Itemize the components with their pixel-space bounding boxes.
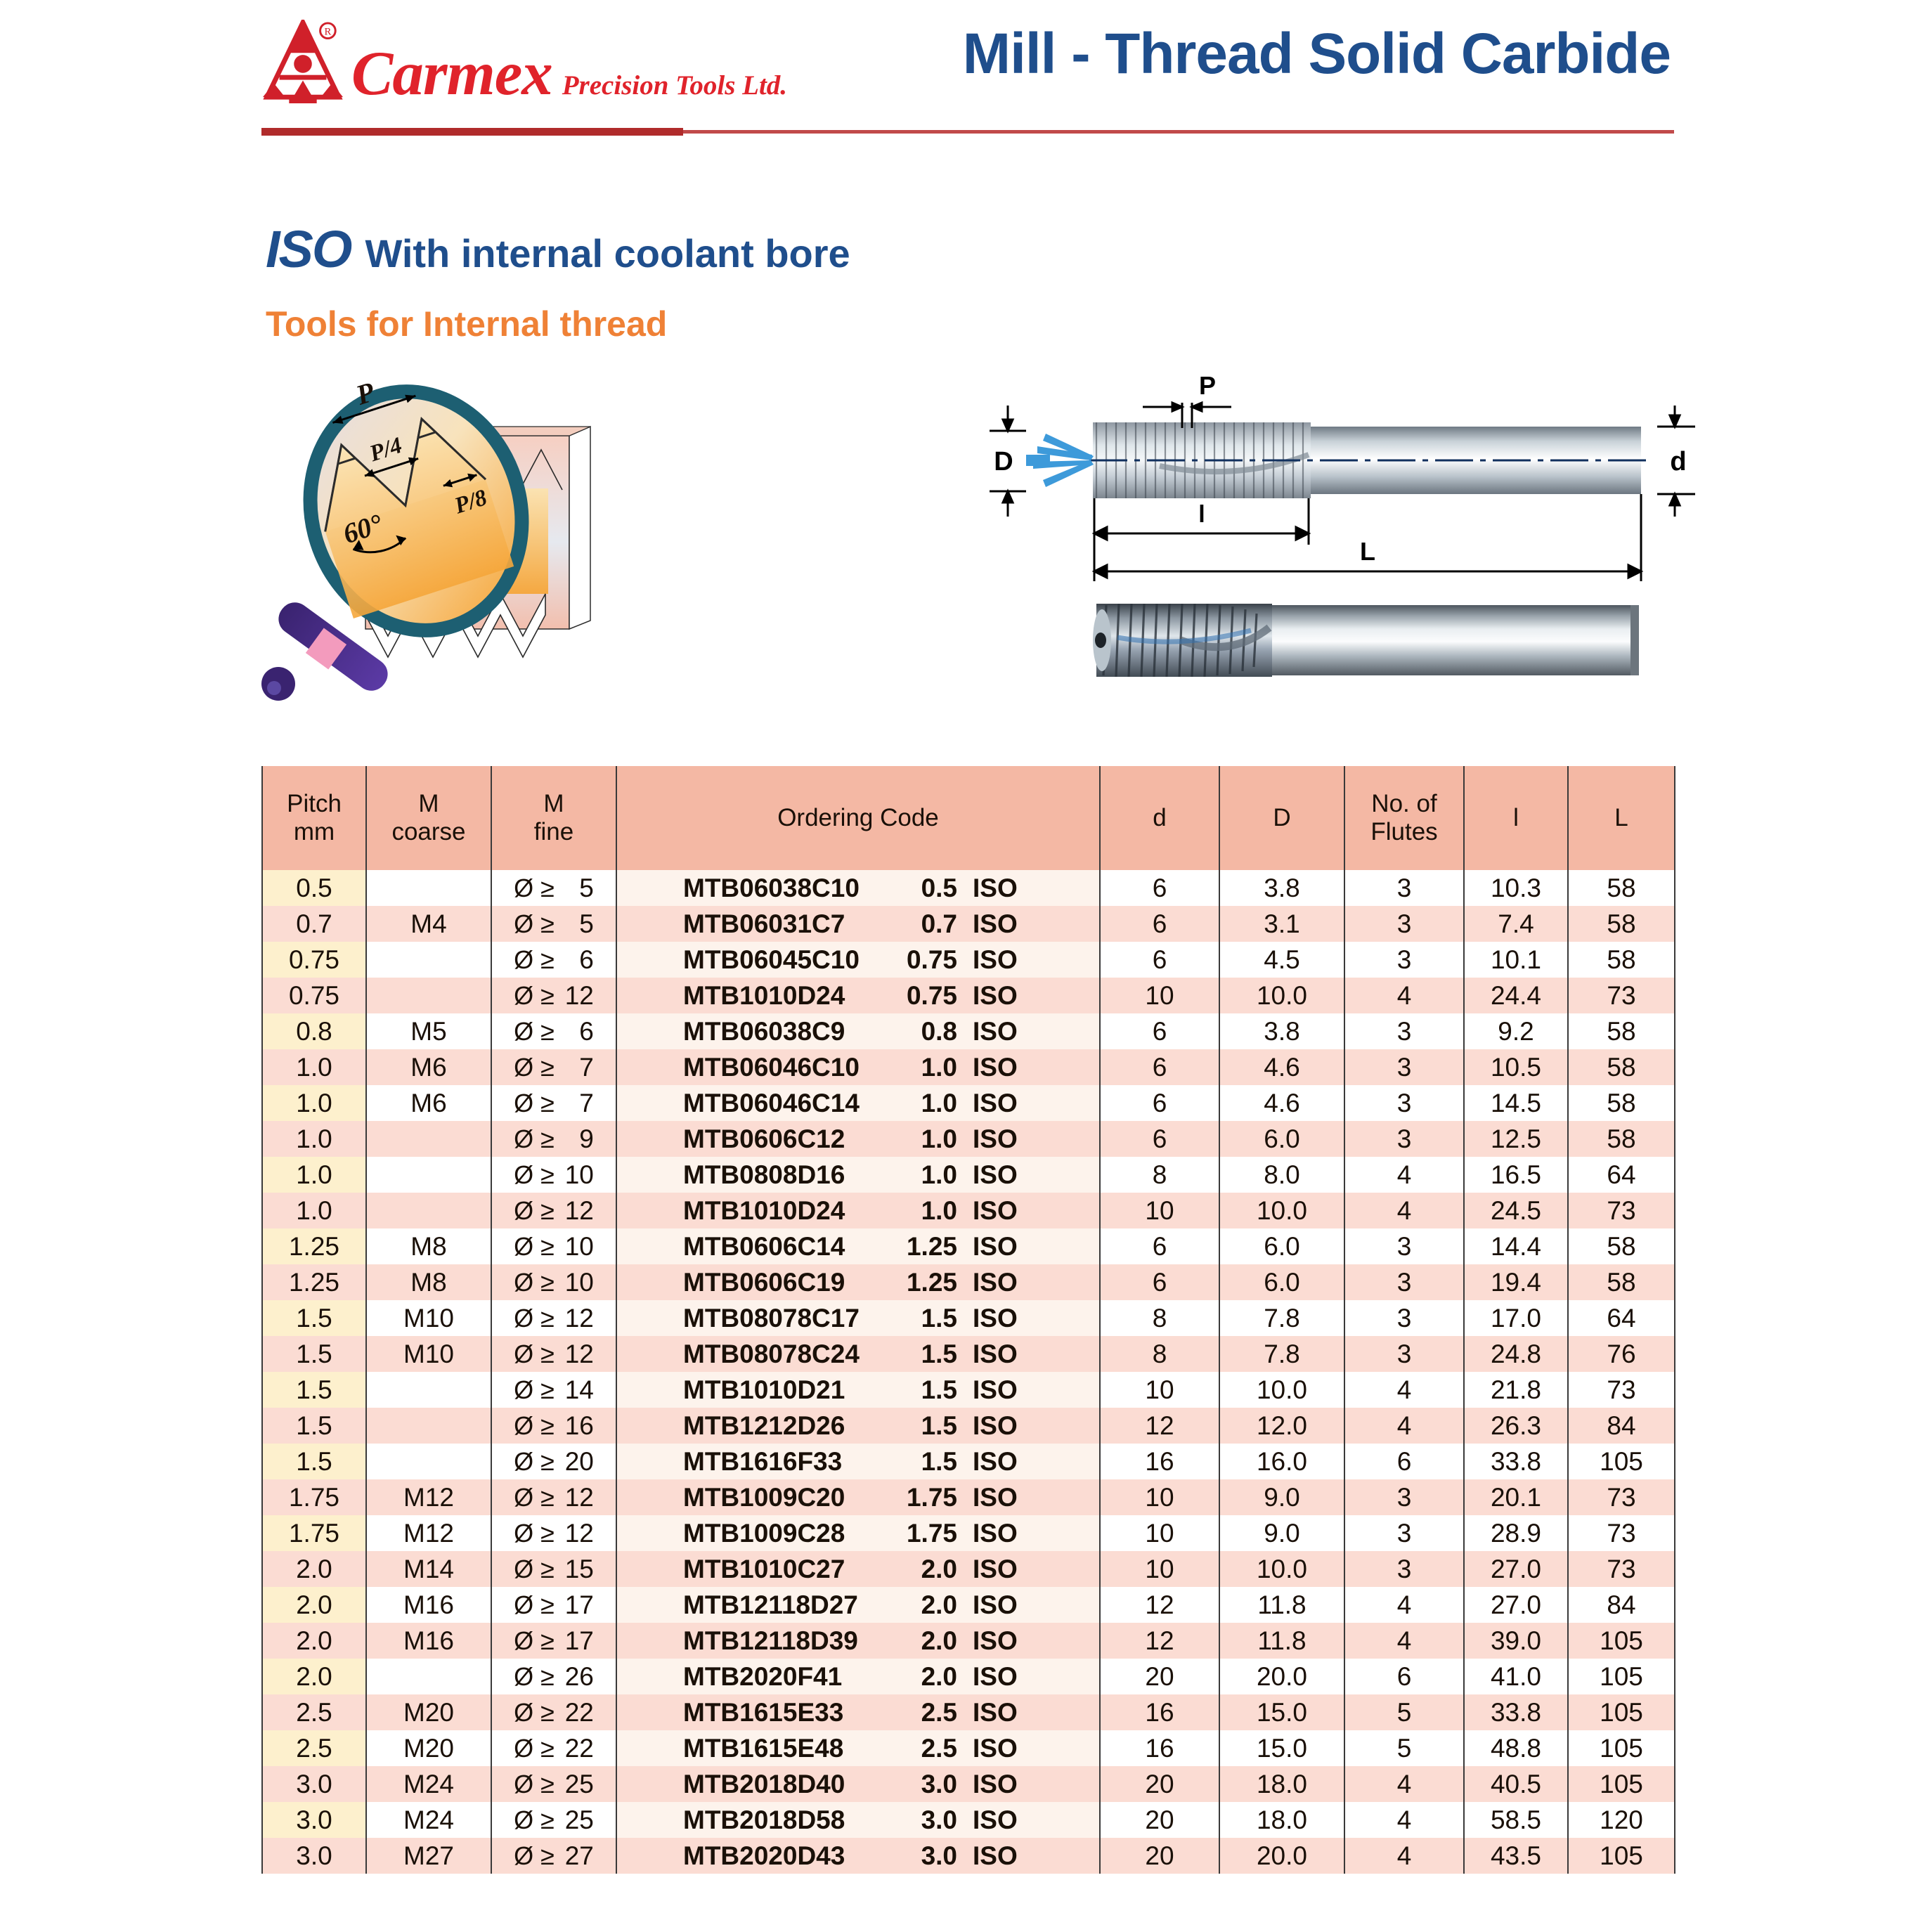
cell-flute-count: 5: [1344, 1730, 1464, 1766]
cell-major-diameter: 6.0: [1219, 1228, 1344, 1264]
cell-m-coarse: [366, 1193, 491, 1228]
cell-ordering-code: MTB0606C141.25ISO: [616, 1228, 1100, 1264]
table-row[interactable]: 2.0M14Ø ≥15MTB1010C272.0ISO1010.0327.073: [262, 1551, 1675, 1587]
cell-m-fine: Ø ≥6: [491, 1013, 616, 1049]
cell-m-coarse: M27: [366, 1838, 491, 1874]
page-title: Mill - Thread Solid Carbide: [963, 21, 1671, 87]
cell-major-diameter: 4.5: [1219, 942, 1344, 978]
cell-flute-count: 3: [1344, 1551, 1464, 1587]
table-row[interactable]: 1.75M12Ø ≥12MTB1009C201.75ISO109.0320.17…: [262, 1479, 1675, 1515]
cell-major-diameter: 11.8: [1219, 1623, 1344, 1659]
table-row[interactable]: 3.0M24Ø ≥25MTB2018D583.0ISO2018.0458.512…: [262, 1802, 1675, 1838]
cell-pitch: 3.0: [262, 1766, 366, 1802]
cell-m-coarse: M24: [366, 1802, 491, 1838]
col-header-flutes-line2: Flutes: [1345, 818, 1463, 846]
cell-pitch: 1.0: [262, 1121, 366, 1157]
cell-shank-diameter: 16: [1100, 1694, 1219, 1730]
cell-m-coarse: [366, 1121, 491, 1157]
cell-flute-count: 4: [1344, 1838, 1464, 1874]
cell-overall-length: 58: [1568, 1049, 1675, 1085]
cell-flute-count: 4: [1344, 1587, 1464, 1623]
cell-flute-count: 4: [1344, 1157, 1464, 1193]
cell-shank-diameter: 10: [1100, 978, 1219, 1013]
cell-m-coarse: [366, 1408, 491, 1444]
cell-thread-length: 24.8: [1464, 1336, 1568, 1372]
cell-thread-length: 10.3: [1464, 870, 1568, 906]
cell-major-diameter: 15.0: [1219, 1694, 1344, 1730]
cell-thread-length: 20.1: [1464, 1479, 1568, 1515]
cell-shank-diameter: 6: [1100, 1228, 1219, 1264]
cell-shank-diameter: 12: [1100, 1623, 1219, 1659]
cell-thread-length: 27.0: [1464, 1587, 1568, 1623]
cell-thread-length: 7.4: [1464, 906, 1568, 942]
cell-pitch: 1.25: [262, 1228, 366, 1264]
cell-thread-length: 40.5: [1464, 1766, 1568, 1802]
cell-overall-length: 120: [1568, 1802, 1675, 1838]
cell-thread-length: 19.4: [1464, 1264, 1568, 1300]
cell-overall-length: 58: [1568, 906, 1675, 942]
cell-flute-count: 4: [1344, 1802, 1464, 1838]
col-header-pitch: Pitch mm: [262, 766, 366, 870]
cell-overall-length: 76: [1568, 1336, 1675, 1372]
col-header-flutes-line1: No. of: [1345, 790, 1463, 818]
cell-ordering-code: MTB1010D211.5ISO: [616, 1372, 1100, 1408]
col-header-m-coarse: M coarse: [366, 766, 491, 870]
cell-pitch: 1.0: [262, 1193, 366, 1228]
table-row[interactable]: 0.8M5Ø ≥6MTB06038C90.8ISO63.839.258: [262, 1013, 1675, 1049]
cell-flute-count: 5: [1344, 1694, 1464, 1730]
table-row[interactable]: 1.0Ø ≥12MTB1010D241.0ISO1010.0424.573: [262, 1193, 1675, 1228]
table-row[interactable]: 1.75M12Ø ≥12MTB1009C281.75ISO109.0328.97…: [262, 1515, 1675, 1551]
cell-thread-length: 14.5: [1464, 1085, 1568, 1121]
cell-m-fine: Ø ≥7: [491, 1085, 616, 1121]
cell-ordering-code: MTB06046C141.0ISO: [616, 1085, 1100, 1121]
cell-m-fine: Ø ≥12: [491, 1515, 616, 1551]
cell-ordering-code: MTB1010C272.0ISO: [616, 1551, 1100, 1587]
col-header-m-fine-line1: M: [492, 790, 616, 818]
cell-thread-length: 9.2: [1464, 1013, 1568, 1049]
table-header-row: Pitch mm M coarse M fine Ordering Code d…: [262, 766, 1675, 870]
cell-m-fine: Ø ≥9: [491, 1121, 616, 1157]
cell-m-fine: Ø ≥10: [491, 1264, 616, 1300]
cell-shank-diameter: 10: [1100, 1193, 1219, 1228]
cell-ordering-code: MTB1615E332.5ISO: [616, 1694, 1100, 1730]
col-header-m-coarse-line1: M: [367, 790, 491, 818]
section-subtitle: Tools for Internal thread: [266, 304, 667, 344]
cell-m-fine: Ø ≥12: [491, 1193, 616, 1228]
cell-m-coarse: M12: [366, 1515, 491, 1551]
cell-shank-diameter: 8: [1100, 1336, 1219, 1372]
cell-overall-length: 73: [1568, 1551, 1675, 1587]
cell-pitch: 2.0: [262, 1623, 366, 1659]
cell-flute-count: 3: [1344, 1300, 1464, 1336]
cell-m-coarse: M14: [366, 1551, 491, 1587]
cell-overall-length: 105: [1568, 1766, 1675, 1802]
cell-m-fine: Ø ≥5: [491, 870, 616, 906]
cell-flute-count: 4: [1344, 1372, 1464, 1408]
cell-shank-diameter: 16: [1100, 1444, 1219, 1479]
section-standard-label: ISO: [266, 219, 351, 279]
cell-major-diameter: 15.0: [1219, 1730, 1344, 1766]
table-row[interactable]: 0.5Ø ≥5MTB06038C100.5ISO63.8310.358: [262, 870, 1675, 906]
cell-ordering-code: MTB12118D392.0ISO: [616, 1623, 1100, 1659]
col-header-ordering-code: Ordering Code: [616, 766, 1100, 870]
table-row[interactable]: 1.5Ø ≥16MTB1212D261.5ISO1212.0426.384: [262, 1408, 1675, 1444]
cell-m-coarse: [366, 1444, 491, 1479]
col-header-m-fine-line2: fine: [492, 818, 616, 846]
cell-overall-length: 73: [1568, 1515, 1675, 1551]
dim-label-D: D: [994, 447, 1013, 476]
cell-flute-count: 4: [1344, 1193, 1464, 1228]
cell-major-diameter: 3.8: [1219, 870, 1344, 906]
table-body: 0.5Ø ≥5MTB06038C100.5ISO63.8310.3580.7M4…: [262, 870, 1675, 1874]
cell-thread-length: 10.5: [1464, 1049, 1568, 1085]
cell-thread-length: 41.0: [1464, 1659, 1568, 1694]
cell-thread-length: 43.5: [1464, 1838, 1568, 1874]
cell-overall-length: 58: [1568, 1228, 1675, 1264]
cell-thread-length: 21.8: [1464, 1372, 1568, 1408]
svg-text:R: R: [324, 27, 331, 38]
cell-thread-length: 33.8: [1464, 1444, 1568, 1479]
cell-shank-diameter: 12: [1100, 1587, 1219, 1623]
cell-pitch: 0.75: [262, 978, 366, 1013]
cell-pitch: 0.5: [262, 870, 366, 906]
cell-flute-count: 6: [1344, 1444, 1464, 1479]
cell-m-fine: Ø ≥14: [491, 1372, 616, 1408]
cell-major-diameter: 16.0: [1219, 1444, 1344, 1479]
cell-m-fine: Ø ≥26: [491, 1659, 616, 1694]
brand-name: Carmex: [351, 44, 552, 104]
cell-major-diameter: 20.0: [1219, 1838, 1344, 1874]
tool-dimension-drawing: D d P l: [984, 376, 1729, 594]
cell-thread-length: 24.5: [1464, 1193, 1568, 1228]
cell-major-diameter: 8.0: [1219, 1157, 1344, 1193]
company-logo: R Carmex Precision Tools Ltd.: [261, 20, 787, 104]
table-row[interactable]: 1.5Ø ≥20MTB1616F331.5ISO1616.0633.8105: [262, 1444, 1675, 1479]
cell-pitch: 1.5: [262, 1300, 366, 1336]
cell-ordering-code: MTB0808D161.0ISO: [616, 1157, 1100, 1193]
cell-m-coarse: M24: [366, 1766, 491, 1802]
cell-overall-length: 58: [1568, 870, 1675, 906]
cell-ordering-code: MTB06038C100.5ISO: [616, 870, 1100, 906]
cell-shank-diameter: 10: [1100, 1551, 1219, 1587]
cell-m-fine: Ø ≥12: [491, 1300, 616, 1336]
dim-label-P: P: [1199, 376, 1216, 400]
cell-major-diameter: 9.0: [1219, 1479, 1344, 1515]
tool-photograph: [1075, 594, 1666, 685]
dim-label-L: L: [1360, 537, 1375, 566]
cell-ordering-code: MTB1009C281.75ISO: [616, 1515, 1100, 1551]
cell-shank-diameter: 6: [1100, 1013, 1219, 1049]
cell-thread-length: 12.5: [1464, 1121, 1568, 1157]
col-header-m-coarse-line2: coarse: [367, 818, 491, 846]
table-row[interactable]: 2.0M16Ø ≥17MTB12118D272.0ISO1211.8427.08…: [262, 1587, 1675, 1623]
cell-flute-count: 3: [1344, 1479, 1464, 1515]
cell-m-fine: Ø ≥10: [491, 1228, 616, 1264]
cell-ordering-code: MTB06045C100.75ISO: [616, 942, 1100, 978]
cell-flute-count: 4: [1344, 1408, 1464, 1444]
col-header-L: L: [1568, 766, 1675, 870]
cell-m-fine: Ø ≥22: [491, 1730, 616, 1766]
cell-m-fine: Ø ≥12: [491, 1479, 616, 1515]
cell-major-diameter: 10.0: [1219, 1193, 1344, 1228]
table-row[interactable]: 3.0M24Ø ≥25MTB2018D403.0ISO2018.0440.510…: [262, 1766, 1675, 1802]
cell-thread-length: 16.5: [1464, 1157, 1568, 1193]
cell-ordering-code: MTB2020D433.0ISO: [616, 1838, 1100, 1874]
cell-m-fine: Ø ≥12: [491, 978, 616, 1013]
cell-m-coarse: [366, 1157, 491, 1193]
cell-shank-diameter: 10: [1100, 1515, 1219, 1551]
cell-pitch: 1.25: [262, 1264, 366, 1300]
brand-tagline: Precision Tools Ltd.: [562, 72, 787, 99]
cell-pitch: 1.0: [262, 1085, 366, 1121]
cell-ordering-code: MTB1616F331.5ISO: [616, 1444, 1100, 1479]
cell-ordering-code: MTB08078C241.5ISO: [616, 1336, 1100, 1372]
cell-pitch: 2.0: [262, 1551, 366, 1587]
cell-m-fine: Ø ≥5: [491, 906, 616, 942]
cell-major-diameter: 18.0: [1219, 1802, 1344, 1838]
cell-m-coarse: M6: [366, 1085, 491, 1121]
cell-flute-count: 3: [1344, 870, 1464, 906]
cell-major-diameter: 18.0: [1219, 1766, 1344, 1802]
cell-ordering-code: MTB06046C101.0ISO: [616, 1049, 1100, 1085]
cell-shank-diameter: 12: [1100, 1408, 1219, 1444]
cell-m-coarse: M16: [366, 1623, 491, 1659]
cell-major-diameter: 6.0: [1219, 1121, 1344, 1157]
cell-flute-count: 4: [1344, 978, 1464, 1013]
cell-thread-length: 28.9: [1464, 1515, 1568, 1551]
cell-pitch: 3.0: [262, 1838, 366, 1874]
cell-ordering-code: MTB08078C171.5ISO: [616, 1300, 1100, 1336]
col-header-l: l: [1464, 766, 1568, 870]
cell-overall-length: 105: [1568, 1730, 1675, 1766]
cell-flute-count: 3: [1344, 1085, 1464, 1121]
table-header: Pitch mm M coarse M fine Ordering Code d…: [262, 766, 1675, 870]
cell-thread-length: 27.0: [1464, 1551, 1568, 1587]
cell-ordering-code: MTB1010D240.75ISO: [616, 978, 1100, 1013]
cell-m-coarse: M10: [366, 1300, 491, 1336]
cell-major-diameter: 12.0: [1219, 1408, 1344, 1444]
cell-shank-diameter: 6: [1100, 1085, 1219, 1121]
table-row[interactable]: 1.25M8Ø ≥10MTB0606C191.25ISO66.0319.458: [262, 1264, 1675, 1300]
cell-ordering-code: MTB06031C70.7ISO: [616, 906, 1100, 942]
cell-overall-length: 73: [1568, 1372, 1675, 1408]
cell-overall-length: 84: [1568, 1408, 1675, 1444]
cell-ordering-code: MTB2018D403.0ISO: [616, 1766, 1100, 1802]
cell-flute-count: 3: [1344, 1515, 1464, 1551]
cell-pitch: 0.75: [262, 942, 366, 978]
cell-shank-diameter: 6: [1100, 870, 1219, 906]
cell-shank-diameter: 6: [1100, 1049, 1219, 1085]
cell-major-diameter: 11.8: [1219, 1587, 1344, 1623]
table-row[interactable]: 0.75Ø ≥6MTB06045C100.75ISO64.5310.158: [262, 942, 1675, 978]
cell-ordering-code: MTB1010D241.0ISO: [616, 1193, 1100, 1228]
cell-overall-length: 73: [1568, 1479, 1675, 1515]
cell-flute-count: 3: [1344, 1121, 1464, 1157]
cell-pitch: 3.0: [262, 1802, 366, 1838]
cell-thread-length: 48.8: [1464, 1730, 1568, 1766]
cell-overall-length: 58: [1568, 942, 1675, 978]
col-header-flutes: No. of Flutes: [1344, 766, 1464, 870]
cell-overall-length: 58: [1568, 1264, 1675, 1300]
cell-ordering-code: MTB1615E482.5ISO: [616, 1730, 1100, 1766]
table-row[interactable]: 1.0M6Ø ≥7MTB06046C101.0ISO64.6310.558: [262, 1049, 1675, 1085]
cell-ordering-code: MTB1212D261.5ISO: [616, 1408, 1100, 1444]
cell-thread-length: 17.0: [1464, 1300, 1568, 1336]
cell-pitch: 1.0: [262, 1049, 366, 1085]
cell-shank-diameter: 6: [1100, 1121, 1219, 1157]
cell-pitch: 0.7: [262, 906, 366, 942]
cell-overall-length: 58: [1568, 1121, 1675, 1157]
cell-shank-diameter: 20: [1100, 1659, 1219, 1694]
cell-flute-count: 3: [1344, 906, 1464, 942]
cell-pitch: 1.75: [262, 1515, 366, 1551]
cell-shank-diameter: 6: [1100, 1264, 1219, 1300]
table-row[interactable]: 0.7M4Ø ≥5MTB06031C70.7ISO63.137.458: [262, 906, 1675, 942]
cell-pitch: 2.5: [262, 1730, 366, 1766]
cell-shank-diameter: 8: [1100, 1300, 1219, 1336]
cell-pitch: 2.0: [262, 1587, 366, 1623]
cell-m-coarse: [366, 942, 491, 978]
cell-overall-length: 105: [1568, 1444, 1675, 1479]
cell-m-fine: Ø ≥12: [491, 1336, 616, 1372]
cell-flute-count: 3: [1344, 1264, 1464, 1300]
dim-label-d: d: [1670, 447, 1686, 476]
cell-m-coarse: M6: [366, 1049, 491, 1085]
cell-m-fine: Ø ≥20: [491, 1444, 616, 1479]
table-row[interactable]: 2.0M16Ø ≥17MTB12118D392.0ISO1211.8439.01…: [262, 1623, 1675, 1659]
cell-flute-count: 3: [1344, 1336, 1464, 1372]
dim-label-l: l: [1198, 501, 1205, 528]
cell-m-fine: Ø ≥27: [491, 1838, 616, 1874]
col-header-D-major: D: [1219, 766, 1344, 870]
cell-shank-diameter: 16: [1100, 1730, 1219, 1766]
table-row[interactable]: 1.5M10Ø ≥12MTB08078C171.5ISO87.8317.064: [262, 1300, 1675, 1336]
cell-overall-length: 73: [1568, 978, 1675, 1013]
table-row[interactable]: 2.5M20Ø ≥22MTB1615E332.5ISO1615.0533.810…: [262, 1694, 1675, 1730]
cell-major-diameter: 7.8: [1219, 1300, 1344, 1336]
cell-m-fine: Ø ≥15: [491, 1551, 616, 1587]
table-row[interactable]: 1.5Ø ≥14MTB1010D211.5ISO1010.0421.873: [262, 1372, 1675, 1408]
header-rule-thick: [261, 128, 683, 136]
cell-pitch: 1.5: [262, 1372, 366, 1408]
table-row[interactable]: 1.0Ø ≥10MTB0808D161.0ISO88.0416.564: [262, 1157, 1675, 1193]
cell-major-diameter: 7.8: [1219, 1336, 1344, 1372]
cell-overall-length: 64: [1568, 1300, 1675, 1336]
table-row[interactable]: 1.5M10Ø ≥12MTB08078C241.5ISO87.8324.876: [262, 1336, 1675, 1372]
cell-major-diameter: 3.1: [1219, 906, 1344, 942]
cell-pitch: 1.75: [262, 1479, 366, 1515]
cell-thread-length: 26.3: [1464, 1408, 1568, 1444]
cell-major-diameter: 10.0: [1219, 978, 1344, 1013]
cell-ordering-code: MTB1009C201.75ISO: [616, 1479, 1100, 1515]
cell-m-coarse: M10: [366, 1336, 491, 1372]
cell-m-fine: Ø ≥25: [491, 1802, 616, 1838]
table-row[interactable]: 2.5M20Ø ≥22MTB1615E482.5ISO1615.0548.810…: [262, 1730, 1675, 1766]
cell-major-diameter: 9.0: [1219, 1515, 1344, 1551]
page-header: R Carmex Precision Tools Ltd. Mill - Thr…: [0, 0, 1932, 141]
cell-pitch: 1.0: [262, 1157, 366, 1193]
cell-overall-length: 84: [1568, 1587, 1675, 1623]
table-row[interactable]: 2.0Ø ≥26MTB2020F412.0ISO2020.0641.0105: [262, 1659, 1675, 1694]
table-row[interactable]: 1.0Ø ≥9MTB0606C121.0ISO66.0312.558: [262, 1121, 1675, 1157]
section-heading: ISO With internal coolant bore: [266, 219, 850, 279]
table-row[interactable]: 3.0M27Ø ≥27MTB2020D433.0ISO2020.0443.510…: [262, 1838, 1675, 1874]
cell-thread-length: 10.1: [1464, 942, 1568, 978]
cell-ordering-code: MTB0606C121.0ISO: [616, 1121, 1100, 1157]
cell-m-fine: Ø ≥25: [491, 1766, 616, 1802]
cell-shank-diameter: 10: [1100, 1479, 1219, 1515]
table-row[interactable]: 0.75Ø ≥12MTB1010D240.75ISO1010.0424.473: [262, 978, 1675, 1013]
cell-m-fine: Ø ≥17: [491, 1623, 616, 1659]
cell-thread-length: 58.5: [1464, 1802, 1568, 1838]
cell-m-coarse: M12: [366, 1479, 491, 1515]
cell-pitch: 1.5: [262, 1444, 366, 1479]
cell-flute-count: 4: [1344, 1623, 1464, 1659]
cell-pitch: 1.5: [262, 1408, 366, 1444]
cell-m-coarse: M20: [366, 1730, 491, 1766]
cell-overall-length: 105: [1568, 1838, 1675, 1874]
cell-ordering-code: MTB0606C191.25ISO: [616, 1264, 1100, 1300]
cell-ordering-code: MTB06038C90.8ISO: [616, 1013, 1100, 1049]
catalog-page: R Carmex Precision Tools Ltd. Mill - Thr…: [0, 0, 1932, 1932]
cell-m-fine: Ø ≥17: [491, 1587, 616, 1623]
cell-pitch: 1.5: [262, 1336, 366, 1372]
cell-m-fine: Ø ≥22: [491, 1694, 616, 1730]
cell-major-diameter: 6.0: [1219, 1264, 1344, 1300]
cell-m-coarse: M4: [366, 906, 491, 942]
col-header-pitch-line2: mm: [263, 818, 365, 846]
specification-table: Pitch mm M coarse M fine Ordering Code d…: [261, 766, 1675, 1874]
cell-m-coarse: M5: [366, 1013, 491, 1049]
cell-thread-length: 14.4: [1464, 1228, 1568, 1264]
table-row[interactable]: 1.0M6Ø ≥7MTB06046C141.0ISO64.6314.558: [262, 1085, 1675, 1121]
specification-table-container: Pitch mm M coarse M fine Ordering Code d…: [261, 766, 1674, 1874]
cell-major-diameter: 4.6: [1219, 1049, 1344, 1085]
cell-ordering-code: MTB2018D583.0ISO: [616, 1802, 1100, 1838]
cell-m-coarse: [366, 1372, 491, 1408]
cell-shank-diameter: 20: [1100, 1766, 1219, 1802]
cell-m-fine: Ø ≥7: [491, 1049, 616, 1085]
cell-flute-count: 4: [1344, 1766, 1464, 1802]
col-header-pitch-line1: Pitch: [263, 790, 365, 818]
cell-m-coarse: M20: [366, 1694, 491, 1730]
cell-m-fine: Ø ≥6: [491, 942, 616, 978]
cell-overall-length: 105: [1568, 1623, 1675, 1659]
cell-major-diameter: 4.6: [1219, 1085, 1344, 1121]
thread-profile-illustration: P P/4 P/8 60°: [260, 383, 752, 706]
cell-m-coarse: [366, 1659, 491, 1694]
cell-flute-count: 3: [1344, 1013, 1464, 1049]
cell-overall-length: 58: [1568, 1013, 1675, 1049]
cell-pitch: 2.5: [262, 1694, 366, 1730]
cell-flute-count: 3: [1344, 1049, 1464, 1085]
cell-m-fine: Ø ≥10: [491, 1157, 616, 1193]
cell-pitch: 0.8: [262, 1013, 366, 1049]
cell-overall-length: 64: [1568, 1157, 1675, 1193]
cell-m-coarse: M16: [366, 1587, 491, 1623]
cell-thread-length: 33.8: [1464, 1694, 1568, 1730]
cell-shank-diameter: 20: [1100, 1802, 1219, 1838]
col-header-m-fine: M fine: [491, 766, 616, 870]
cell-flute-count: 3: [1344, 1228, 1464, 1264]
cell-major-diameter: 10.0: [1219, 1551, 1344, 1587]
cell-overall-length: 58: [1568, 1085, 1675, 1121]
cell-m-coarse: M8: [366, 1264, 491, 1300]
table-row[interactable]: 1.25M8Ø ≥10MTB0606C141.25ISO66.0314.458: [262, 1228, 1675, 1264]
col-header-d: d: [1100, 766, 1219, 870]
cell-overall-length: 105: [1568, 1659, 1675, 1694]
